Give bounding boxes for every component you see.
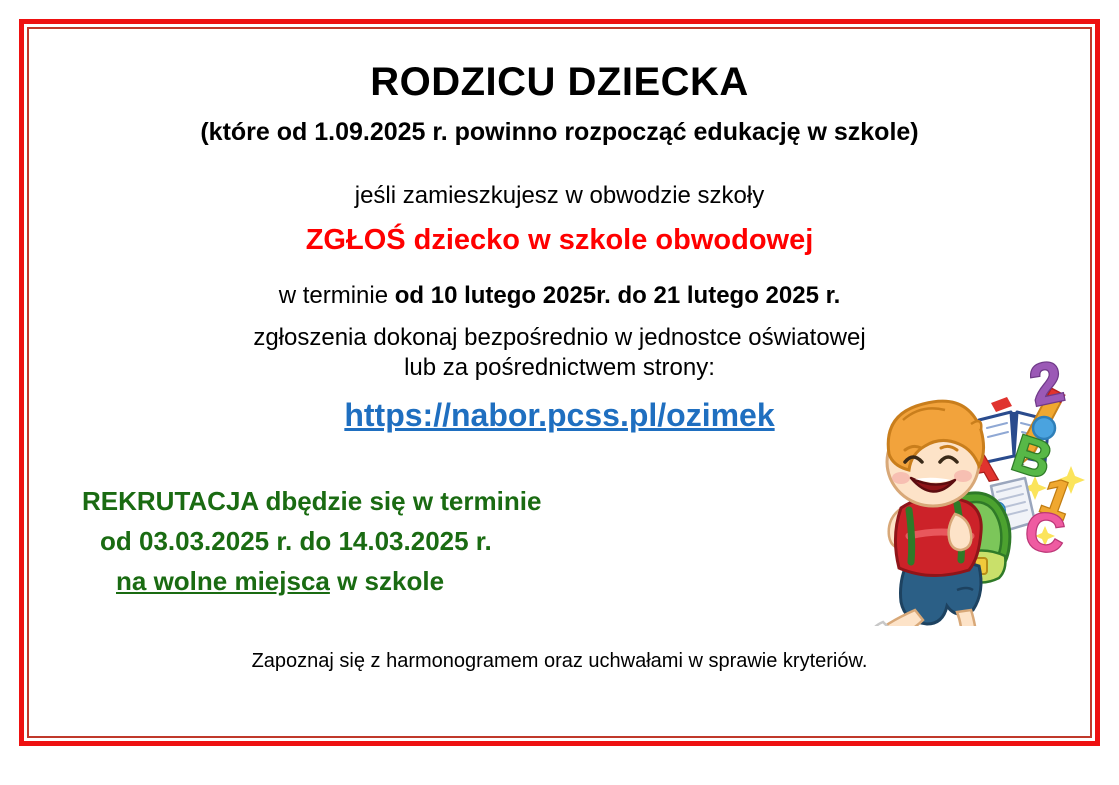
term-prefix: w terminie <box>279 282 395 309</box>
recruitment-line-3: na wolne miejsca w szkole <box>82 561 1063 601</box>
footnote-line: Zapoznaj się z harmonogramem oraz uchwał… <box>56 648 1063 674</box>
registration-link-wrapper: https://nabor.pcss.pl/ozimek <box>56 395 1063 435</box>
condition-line: jeśli zamieszkujesz w obwodzie szkoły <box>56 181 1063 211</box>
term-to: do 21 lutego 2025 r. <box>618 282 841 309</box>
spacer <box>56 147 1063 181</box>
spacer <box>56 211 1063 223</box>
call-to-action-line: ZGŁOŚ dziecko w szkole obwodowej <box>56 223 1063 258</box>
poster-content: RODZICU DZIECKA (które od 1.09.2025 r. p… <box>34 34 1085 731</box>
spacer <box>56 258 1063 280</box>
spacer <box>56 435 1063 481</box>
poster-subtitle: (które od 1.09.2025 r. powinno rozpocząć… <box>56 117 1063 147</box>
term-spacer <box>611 282 618 309</box>
poster-root: 2 B A 1 3 C <box>0 0 1119 785</box>
instruction-line-1: zgłoszenia dokonaj bezpośrednio w jednos… <box>56 323 1063 353</box>
term-from: od 10 lutego 2025r. <box>395 282 611 309</box>
recruitment-line-3-underlined: na wolne miejsca <box>116 566 330 596</box>
spacer <box>56 602 1063 648</box>
spacer <box>56 383 1063 395</box>
instruction-line-2: lub za pośrednictwem strony: <box>56 353 1063 383</box>
registration-link[interactable]: https://nabor.pcss.pl/ozimek <box>344 395 774 435</box>
spacer <box>56 311 1063 323</box>
term-line: w terminie od 10 lutego 2025r. do 21 lut… <box>56 280 1063 311</box>
recruitment-line-3-rest: w szkole <box>330 566 444 596</box>
page-title: RODZICU DZIECKA <box>56 60 1063 105</box>
recruitment-line-2: od 03.03.2025 r. do 14.03.2025 r. <box>82 521 1063 561</box>
recruitment-block: REKRUTACJA dbędzie się w terminie od 03.… <box>56 481 1063 602</box>
recruitment-line-1: REKRUTACJA dbędzie się w terminie <box>82 481 1063 521</box>
